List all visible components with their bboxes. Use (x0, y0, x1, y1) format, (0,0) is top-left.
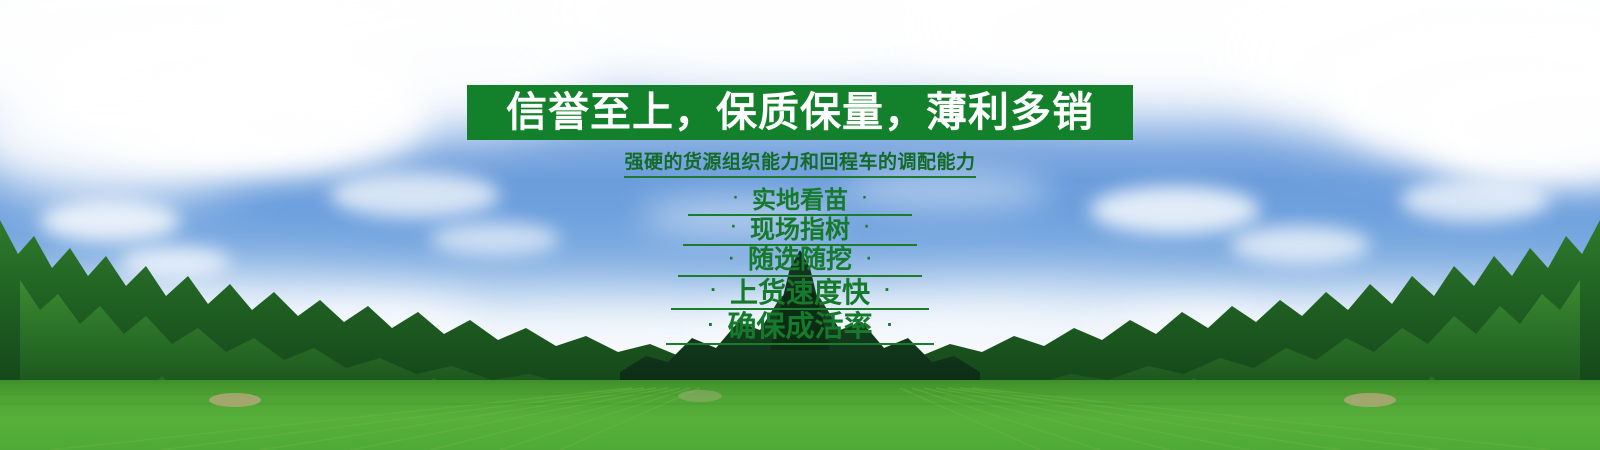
feature-item: · 上货速度快 · (671, 277, 929, 310)
promo-banner: 信誉至上，保质保量，薄利多销 强硬的货源组织能力和回程车的调配能力 · 实地看苗… (0, 0, 1600, 450)
bullet-dot-icon: · (707, 317, 713, 333)
bullet-dot-icon: · (733, 192, 738, 205)
feature-item: · 确保成活率 · (666, 310, 934, 344)
banner-content: 信誉至上，保质保量，薄利多销 强硬的货源组织能力和回程车的调配能力 · 实地看苗… (0, 0, 1600, 450)
headline-band: 信誉至上，保质保量，薄利多销 (467, 85, 1133, 140)
feature-item: · 实地看苗 · (688, 187, 912, 216)
bullet-dot-icon: · (731, 221, 736, 235)
bullet-dot-icon: · (887, 317, 893, 333)
feature-label: 现场指树 (736, 216, 864, 244)
bullet-dot-icon: · (864, 221, 869, 235)
bullet-dot-icon: · (710, 283, 716, 298)
bullet-dot-icon: · (729, 252, 734, 266)
headline-text: 信誉至上，保质保量，薄利多销 (506, 92, 1094, 133)
bullet-dot-icon: · (866, 252, 871, 266)
feature-label: 随选随挖 (734, 246, 866, 275)
feature-label: 确保成活率 (713, 310, 886, 342)
feature-item: · 随选随挖 · (678, 246, 922, 277)
feature-item: · 现场指树 · (683, 216, 917, 246)
bullet-dot-icon: · (884, 283, 890, 298)
subtitle-text: 强硬的货源组织能力和回程车的调配能力 (624, 147, 975, 178)
feature-list: · 实地看苗 · · 现场指树 · · 随选随挖 · · 上货速度快 · · (666, 187, 934, 345)
feature-label: 上货速度快 (716, 277, 884, 308)
feature-label: 实地看苗 (738, 187, 862, 214)
bullet-dot-icon: · (862, 192, 867, 205)
